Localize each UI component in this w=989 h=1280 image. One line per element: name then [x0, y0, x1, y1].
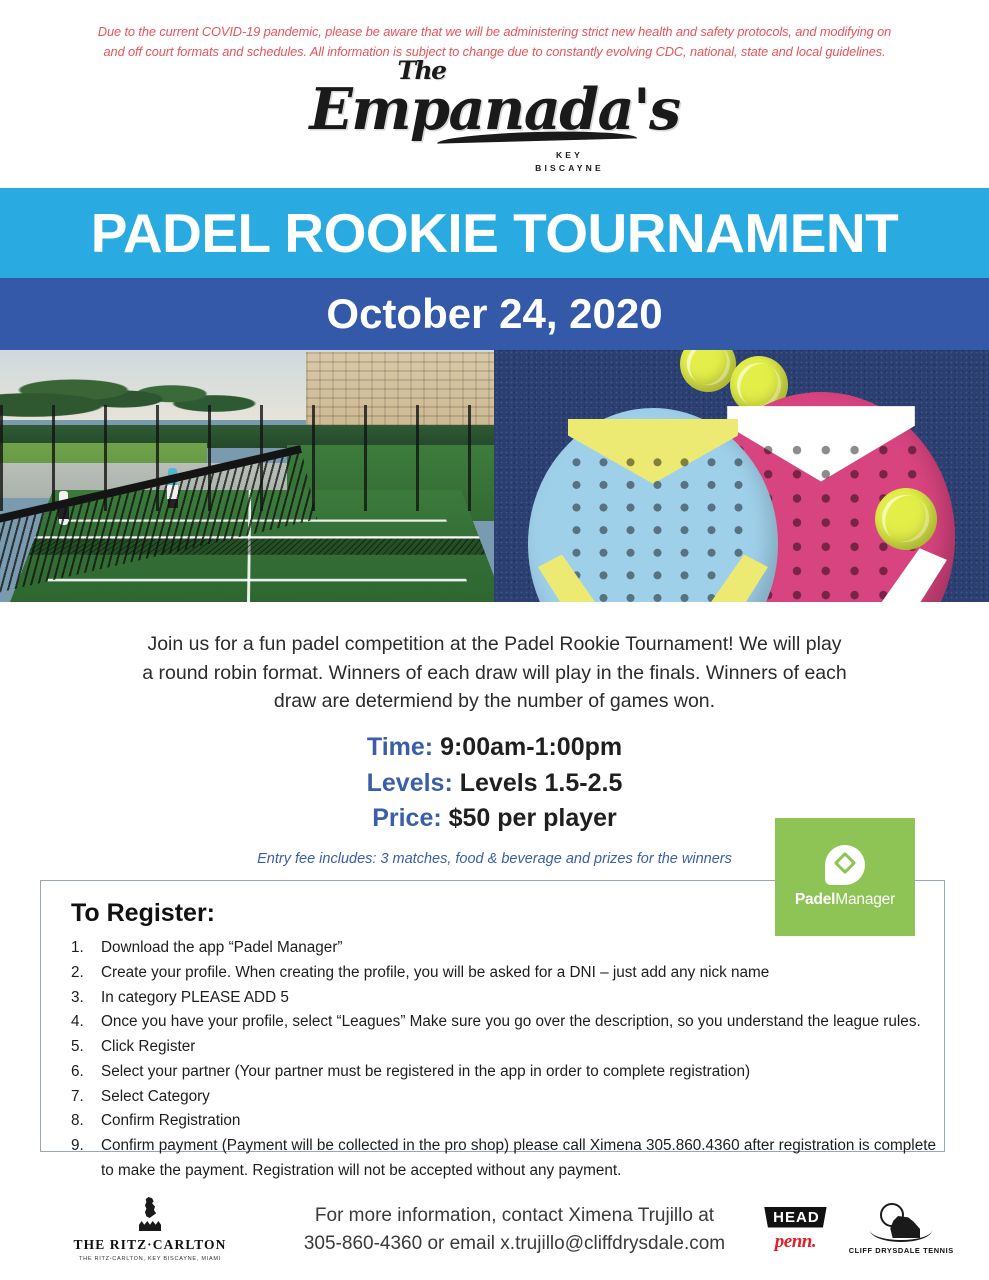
- step-text: In category PLEASE ADD 5: [101, 986, 944, 1011]
- list-item: 2. Create your profile. When creating th…: [71, 961, 944, 986]
- empanadas-logo-location: KEY BISCAYNE: [535, 149, 604, 175]
- detail-value-price: $50 per player: [449, 804, 617, 832]
- sponsor-logos: HEAD penn. CLIFF DRYSDALE TENNIS: [729, 1204, 989, 1255]
- logo-location-line-2: BISCAYNE: [535, 162, 604, 175]
- empanadas-logo-the: The: [397, 59, 445, 83]
- detail-label-time: Time:: [367, 733, 433, 761]
- tournament-title: PADEL ROOKIE TOURNAMENT: [91, 201, 898, 265]
- head-wordmark: HEAD: [764, 1207, 827, 1228]
- description-line-3: draw are determiend by the number of gam…: [78, 687, 911, 716]
- padel-rackets-photo: [494, 350, 989, 602]
- ritz-carlton-logo: THE RITZ·CARLTON THE RITZ-CARLTON, KEY B…: [0, 1197, 300, 1262]
- blue-racket-holes: [563, 451, 743, 601]
- step-text: Create your profile. When creating the p…: [101, 961, 944, 986]
- empanadas-logo-wordmark: The Empanada's: [309, 83, 679, 137]
- padelmanager-wordmark: PadelManager: [795, 891, 895, 909]
- tournament-title-banner: PADEL ROOKIE TOURNAMENT: [0, 188, 989, 278]
- tennis-ball-on-racket: [875, 488, 937, 550]
- crown-icon: [139, 1221, 161, 1231]
- tennis-player-icon: [870, 1204, 932, 1242]
- step-text: Select Category: [101, 1085, 944, 1110]
- flyer-footer: THE RITZ·CARLTON THE RITZ-CARLTON, KEY B…: [0, 1197, 989, 1262]
- tournament-date-banner: October 24, 2020: [0, 278, 989, 350]
- covid-notice: Due to the current COVID-19 pandemic, pl…: [0, 0, 989, 66]
- detail-value-time: 9:00am-1:00pm: [440, 733, 622, 761]
- padel-courts-photo: [0, 350, 494, 602]
- list-item: 9. Confirm payment (Payment will be coll…: [71, 1134, 944, 1184]
- cliff-drysdale-tennis-logo: CLIFF DRYSDALE TENNIS: [849, 1204, 954, 1255]
- step-number: 2.: [71, 961, 87, 986]
- step-text: Confirm Registration: [101, 1109, 944, 1134]
- description-line-1: Join us for a fun padel competition at t…: [78, 630, 911, 659]
- step-text: Confirm payment (Payment will be collect…: [101, 1134, 944, 1184]
- logo-location-line-1: KEY: [535, 149, 604, 162]
- step-number: 5.: [71, 1035, 87, 1060]
- step-number: 8.: [71, 1109, 87, 1134]
- list-item: 3. In category PLEASE ADD 5: [71, 986, 944, 1011]
- description-line-2: a round robin format. Winners of each dr…: [78, 659, 911, 688]
- swoosh-arc-shape: [870, 1218, 932, 1242]
- contact-line-1: For more information, contact Ximena Tru…: [300, 1202, 729, 1230]
- covid-notice-line-1: Due to the current COVID-19 pandemic, pl…: [28, 22, 961, 42]
- step-text: Download the app “Padel Manager”: [101, 936, 944, 961]
- ritz-lion-crown-icon: [133, 1197, 167, 1231]
- contact-info: For more information, contact Ximena Tru…: [300, 1202, 729, 1257]
- list-item: 5. Click Register: [71, 1035, 944, 1060]
- covid-notice-line-2: and off court formats and schedules. All…: [28, 42, 961, 62]
- padelmanager-logo: PadelManager: [775, 818, 915, 936]
- detail-row-time: Time: 9:00am-1:00pm: [0, 730, 989, 766]
- step-text: Select your partner (Your partner must b…: [101, 1060, 944, 1085]
- cliff-drysdale-wordmark: CLIFF DRYSDALE TENNIS: [849, 1246, 954, 1255]
- list-item: 1. Download the app “Padel Manager”: [71, 936, 944, 961]
- court-line-baseline: [47, 578, 468, 581]
- padelmanager-name-light: Manager: [835, 891, 895, 908]
- list-item: 7. Select Category: [71, 1085, 944, 1110]
- list-item: 6. Select your partner (Your partner mus…: [71, 1060, 944, 1085]
- empanadas-logo-name: Empanada's: [309, 76, 679, 143]
- step-number: 7.: [71, 1085, 87, 1110]
- empanadas-logo: The Empanada's KEY BISCAYNE: [0, 70, 989, 188]
- step-number: 3.: [71, 986, 87, 1011]
- photo-strip: [0, 350, 989, 602]
- ritz-carlton-name: THE RITZ·CARLTON: [73, 1237, 226, 1253]
- step-number: 6.: [71, 1060, 87, 1085]
- list-item: 8. Confirm Registration: [71, 1109, 944, 1134]
- penn-wordmark: penn.: [775, 1231, 816, 1253]
- contact-line-2: 305-860-4360 or email x.trujillo@cliffdr…: [300, 1230, 729, 1258]
- padelmanager-name-bold: Padel: [795, 891, 835, 908]
- step-number: 1.: [71, 936, 87, 961]
- detail-label-levels: Levels:: [367, 769, 453, 797]
- register-steps-list: 1. Download the app “Padel Manager” 2. C…: [71, 936, 944, 1184]
- step-number: 9.: [71, 1134, 87, 1184]
- step-text: Once you have your profile, select “Leag…: [101, 1010, 944, 1035]
- ritz-carlton-location: THE RITZ-CARLTON, KEY BISCAYNE, MIAMI: [79, 1256, 221, 1262]
- padelmanager-pin-icon: [825, 845, 865, 885]
- head-penn-logo: HEAD penn.: [764, 1207, 827, 1253]
- detail-row-levels: Levels: Levels 1.5-2.5: [0, 766, 989, 802]
- step-text: Click Register: [101, 1035, 944, 1060]
- lion-icon: [141, 1197, 159, 1218]
- step-number: 4.: [71, 1010, 87, 1035]
- list-item: 4. Once you have your profile, select “L…: [71, 1010, 944, 1035]
- tournament-date: October 24, 2020: [326, 290, 662, 338]
- flyer-page: Due to the current COVID-19 pandemic, pl…: [0, 0, 989, 1280]
- event-description: Join us for a fun padel competition at t…: [0, 630, 989, 717]
- detail-label-price: Price:: [372, 804, 441, 832]
- detail-value-levels: Levels 1.5-2.5: [460, 769, 623, 797]
